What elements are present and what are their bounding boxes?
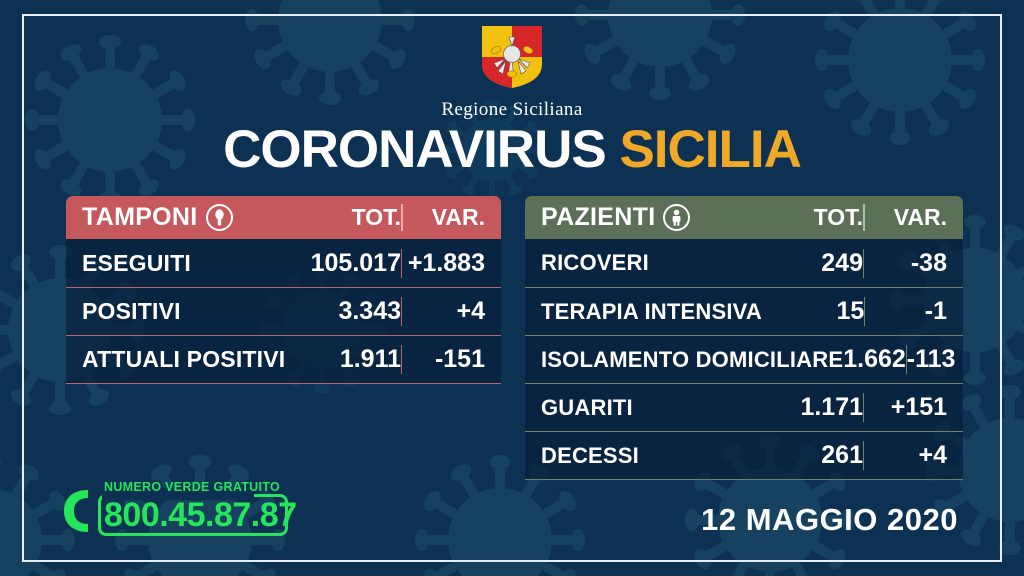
row-variation: -113 — [906, 345, 972, 374]
page-title: CORONAVIRUS SICILIA — [0, 119, 1024, 180]
logo-block: Regione Siciliana — [0, 24, 1024, 121]
table-row: ISOLAMENTO DOMICILIARE 1.662 -113 — [525, 335, 963, 383]
row-variation: -38 — [863, 249, 963, 278]
pazienti-col-var: VAR. — [863, 204, 963, 231]
row-total: 1.662 — [843, 345, 906, 374]
hotline-label: NUMERO VERDE GRATUITO — [104, 480, 280, 494]
tamponi-rows: ESEGUITI 105.017 +1.883 POSITIVI 3.343 +… — [66, 239, 501, 384]
table-row: TERAPIA INTENSIVA 15 -1 — [525, 287, 963, 335]
tamponi-table-header: TAMPONI TOT. VAR. — [66, 196, 501, 239]
tamponi-table: TAMPONI TOT. VAR. ESEGUITI 105.017 +1.88… — [66, 196, 501, 384]
row-variation: +1.883 — [401, 249, 501, 278]
table-row: ESEGUITI 105.017 +1.883 — [66, 239, 501, 287]
report-date: 12 MAGGIO 2020 — [701, 502, 958, 538]
logo-caption: Regione Siciliana — [0, 99, 1024, 121]
table-row: RICOVERI 249 -38 — [525, 239, 963, 287]
row-label: ATTUALI POSITIVI — [66, 346, 297, 373]
pazienti-header-label: PAZIENTI — [541, 203, 655, 232]
pazienti-header-label-wrap: PAZIENTI — [525, 203, 759, 232]
table-row: GUARITI 1.171 +151 — [525, 383, 963, 431]
row-variation: +151 — [863, 393, 963, 422]
row-label: RICOVERI — [525, 250, 759, 276]
row-variation: -1 — [864, 297, 963, 326]
tamponi-header-label-wrap: TAMPONI — [66, 203, 297, 232]
table-row: POSITIVI 3.343 +4 — [66, 287, 501, 335]
row-total: 105.017 — [297, 249, 401, 278]
swab-icon — [206, 204, 233, 231]
row-label: ISOLAMENTO DOMICILIARE — [525, 347, 843, 373]
row-total: 249 — [759, 249, 863, 278]
row-label: TERAPIA INTENSIVA — [525, 299, 762, 325]
row-label: DECESSI — [525, 443, 759, 469]
row-label: GUARITI — [525, 395, 759, 421]
sicilian-coat-of-arms-icon — [480, 24, 544, 90]
title-part-sicilia: SICILIA — [619, 120, 800, 179]
row-total: 3.343 — [297, 297, 401, 326]
person-icon — [663, 204, 690, 231]
row-total: 261 — [759, 441, 863, 470]
phone-icon — [58, 486, 94, 536]
hotline-number[interactable]: 800.45.87.87 — [104, 496, 297, 535]
table-row: DECESSI 261 +4 — [525, 431, 963, 479]
tamponi-header-label: TAMPONI — [82, 203, 198, 232]
hotline-block: NUMERO VERDE GRATUITO 800.45.87.87 — [58, 480, 318, 542]
tamponi-col-var: VAR. — [401, 204, 501, 231]
row-label: POSITIVI — [66, 298, 297, 325]
pazienti-table-header: PAZIENTI TOT. VAR. — [525, 196, 963, 239]
pazienti-table: PAZIENTI TOT. VAR. RICOVERI 249 -38 — [525, 196, 963, 480]
row-label: ESEGUITI — [66, 250, 297, 277]
row-variation: +4 — [863, 441, 963, 470]
row-variation: -151 — [401, 345, 501, 374]
pazienti-rows: RICOVERI 249 -38 TERAPIA INTENSIVA 15 -1… — [525, 239, 963, 480]
row-variation: +4 — [401, 297, 501, 326]
table-row: ATTUALI POSITIVI 1.911 -151 — [66, 335, 501, 383]
title-part-coronavirus: CORONAVIRUS — [223, 120, 606, 179]
row-total: 1.911 — [297, 345, 401, 374]
pazienti-col-tot: TOT. — [759, 204, 863, 231]
row-total: 15 — [762, 297, 864, 326]
tamponi-col-tot: TOT. — [297, 204, 401, 231]
row-total: 1.171 — [759, 393, 863, 422]
